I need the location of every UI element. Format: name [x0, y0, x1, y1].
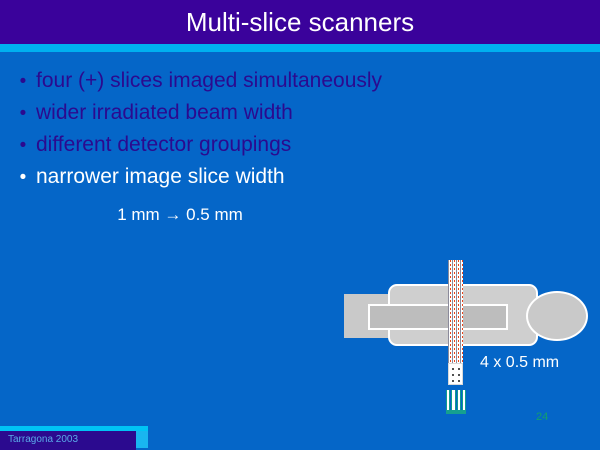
page-title: Multi-slice scanners [0, 0, 600, 44]
slide-canvas: Multi-slice scanners • four (+) slices i… [0, 0, 600, 450]
ct-scanner-diagram: 4 x 0.5 mm [330, 258, 600, 428]
footer-tab [136, 431, 148, 448]
list-item-label: four (+) slices imaged simultaneously [36, 70, 382, 91]
slice-width-annotation: 1 mm → 0.5 mm [0, 205, 360, 225]
beam-width-label: 4 x 0.5 mm [480, 354, 559, 372]
accent-band-blue [0, 52, 600, 58]
bullet-point-icon: • [10, 72, 36, 91]
bullet-point-icon: • [10, 104, 36, 123]
patient-body-inner [368, 304, 508, 330]
list-item: • narrower image slice width [10, 166, 480, 198]
list-item: • wider irradiated beam width [10, 102, 480, 134]
bullet-point-icon: • [10, 168, 36, 187]
bullet-list: • four (+) slices imaged simultaneously … [10, 70, 480, 198]
footer-label: Tarragona 2003 [8, 434, 138, 445]
bullet-point-icon: • [10, 136, 36, 155]
list-item: • different detector groupings [10, 134, 480, 166]
detector-array-base [446, 410, 466, 414]
detector-box [448, 363, 463, 385]
list-item: • four (+) slices imaged simultaneously [10, 70, 480, 102]
list-item-label: wider irradiated beam width [36, 102, 293, 123]
page-number: 24 [536, 411, 548, 423]
x-ray-beam [448, 260, 463, 368]
accent-band-cyan [0, 44, 600, 52]
list-item-label: narrower image slice width [36, 166, 285, 187]
patient-head [526, 291, 588, 341]
list-item-label: different detector groupings [36, 134, 291, 155]
